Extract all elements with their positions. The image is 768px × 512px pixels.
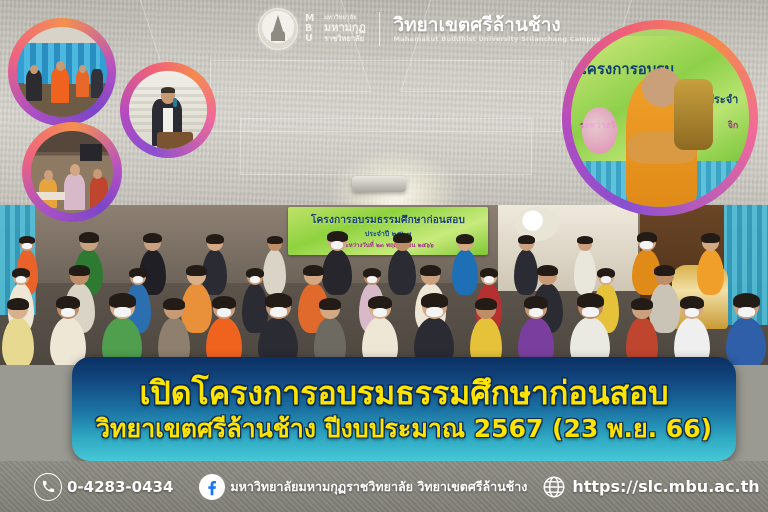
header-logo: M B U มหาวิทยาลัย มหามกุฏ ราชวิทยาลัย วิ…	[258, 8, 600, 50]
crowd-person-mask	[367, 276, 378, 283]
thai-name-main: มหามกุฏ	[324, 22, 366, 35]
crowd-person-hair	[654, 265, 675, 276]
title-line-2: วิทยาเขตศรีล้านช้าง ปีงบประมาณ 2567 (23 …	[96, 415, 712, 442]
crowd-person-mask	[738, 307, 755, 318]
bubble-seated-guests	[8, 18, 116, 126]
crowd-person-hair	[109, 293, 136, 308]
crowd-person-mask	[133, 276, 144, 283]
campus-name-block: วิทยาเขตศรีล้านช้าง Mahamakut Buddhist U…	[393, 15, 600, 44]
website-url: https://slc.mbu.ac.th	[572, 477, 759, 496]
thai-name-top: มหาวิทยาลัย	[324, 14, 366, 22]
crowd-person-mask	[529, 308, 544, 317]
crowd-person-hair	[537, 265, 558, 276]
bubble-speaker-podium	[120, 62, 216, 158]
footer-website[interactable]: https://slc.mbu.ac.th	[541, 474, 759, 500]
crowd-person-mask	[685, 308, 700, 317]
crowd-person-hair	[475, 298, 497, 310]
campus-name-thai: วิทยาเขตศรีล้านช้าง	[393, 15, 600, 36]
crowd-person-hair	[69, 265, 90, 276]
crowd-person-hair	[186, 265, 207, 276]
main-group-photo: โครงการอบรมธรรมศึกษาก่อนสอบ ประจำปี ๒๕๖๗…	[0, 205, 768, 365]
crowd-person-hair	[420, 265, 441, 276]
stupa-base-shape	[271, 31, 285, 41]
crowd-person-hair	[577, 293, 604, 308]
crowd-person-hair	[421, 293, 448, 308]
crowd-person	[574, 249, 596, 295]
poster-root: โครงการอบรมธรรมศึกษาก่อนสอบ ประจำปี ๒๕๖๗…	[0, 0, 768, 512]
thai-name-bottom: ราชวิทยาลัย	[324, 34, 366, 43]
footer-facebook[interactable]: มหาวิทยาลัยมหามกุฏราชวิทยาลัย วิทยาเขตศร…	[199, 474, 527, 500]
title-line-1: เปิดโครงการอบรมธรรมศึกษาก่อนสอบ	[139, 376, 668, 411]
crowd-person	[388, 249, 416, 295]
bubble-banner-line4: จิก	[728, 118, 739, 132]
title-banner: เปิดโครงการอบรมธรรมศึกษาก่อนสอบ วิทยาเขต…	[72, 357, 736, 461]
bubble-classroom-students	[22, 122, 122, 222]
crowd-person-hair	[206, 234, 224, 244]
crowd-person	[697, 249, 724, 295]
crowd-person-mask	[582, 307, 599, 318]
crowd-person-mask	[426, 307, 443, 318]
university-thai-name: มหาวิทยาลัย มหามกุฏ ราชวิทยาลัย	[324, 14, 366, 44]
footer-phone[interactable]: 0-4283-0434	[34, 473, 173, 501]
crowd-person-hair	[303, 265, 324, 276]
phone-number: 0-4283-0434	[67, 478, 173, 496]
stupa-shape	[273, 15, 283, 31]
crowd-person-mask	[373, 308, 388, 317]
crowd-person-hair	[267, 236, 283, 244]
crowd-person-mask	[250, 276, 261, 283]
crowd-person-mask	[331, 241, 344, 249]
crowd-person-mask	[16, 276, 27, 283]
university-seal-icon	[258, 8, 298, 50]
crowd-person-mask	[270, 307, 287, 318]
facebook-icon	[199, 474, 225, 500]
stage-banner-line1: โครงการอบรมธรรมศึกษาก่อนสอบ	[288, 213, 488, 228]
crowd-person	[514, 249, 538, 295]
globe-icon	[541, 474, 567, 500]
crowd-person	[452, 249, 478, 295]
crowd-person-hair	[631, 298, 653, 310]
crowd-person-mask	[484, 276, 495, 283]
crowd-person-hair	[319, 298, 341, 310]
crowd-person	[322, 249, 352, 295]
crowd-person-mask	[22, 243, 32, 249]
facebook-page-name: มหาวิทยาลัยมหามกุฏราชวิทยาลัย วิทยาเขตศร…	[230, 477, 527, 497]
crowd-person-hair	[456, 234, 474, 244]
logo-divider	[379, 12, 381, 46]
bubble-speaker-podium-image	[129, 71, 207, 149]
crowd-person	[263, 249, 286, 295]
crowd-person-mask	[114, 307, 131, 318]
ceiling-projector	[352, 176, 406, 192]
crowd-person-hair	[733, 293, 760, 308]
footer-contact-bar: 0-4283-0434 มหาวิทยาลัยมหามกุฏราชวิทยาลั…	[0, 461, 768, 512]
phone-icon	[34, 473, 62, 501]
crowd-person-mask	[640, 241, 652, 249]
bubble-monk-portrait-image: เครงการอบรม ประจำ ระหว่างวั จิก	[571, 29, 749, 207]
mbu-acronym: M B U	[305, 14, 315, 43]
crowd-person-mask	[217, 308, 232, 317]
crowd-person-hair	[701, 233, 720, 243]
crowd-person-hair	[79, 232, 99, 243]
crowd-person-hair	[393, 233, 412, 243]
crowd-person-hair	[163, 298, 185, 310]
campus-name-english: Mahamakut Buddhist University Srilanchan…	[393, 35, 600, 43]
crowd-person-mask	[601, 276, 612, 283]
bubble-seated-guests-image	[17, 27, 107, 117]
crowd-person-hair	[7, 298, 29, 310]
mbu-letter-u: U	[305, 34, 315, 44]
crowd-person-hair	[577, 236, 593, 244]
bubble-classroom-students-image	[31, 131, 113, 213]
crowd-person-hair	[143, 233, 162, 243]
crowd-person-mask	[61, 308, 76, 317]
crowd-person-hair	[518, 235, 535, 244]
crowd-person-hair	[265, 293, 292, 308]
